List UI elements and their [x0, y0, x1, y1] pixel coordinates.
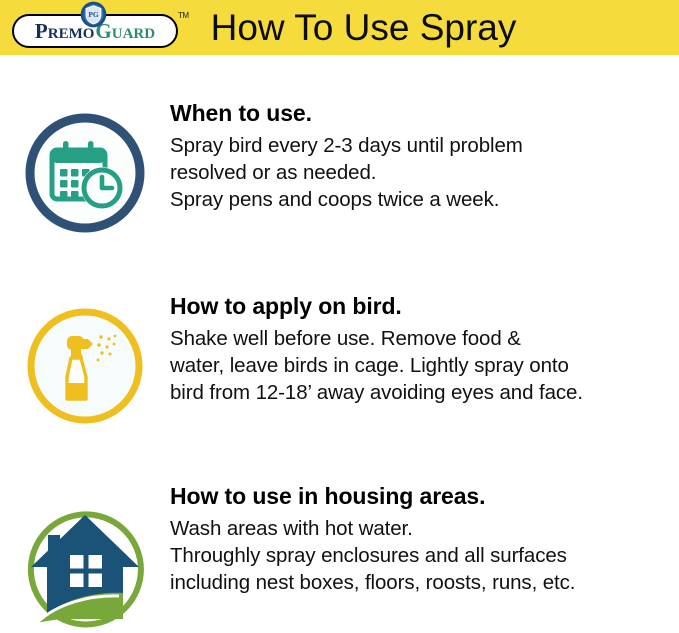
body-line: resolved or as needed. — [170, 159, 671, 186]
text-column: How to use in housing areas. Wash areas … — [170, 483, 679, 596]
calendar-clock-icon — [22, 110, 148, 236]
icon-column — [0, 100, 170, 236]
instruction-section-when-to-use: When to use. Spray bird every 2-3 days u… — [0, 100, 679, 236]
section-title: How to use in housing areas. — [170, 483, 671, 510]
instruction-section-housing-areas: How to use in housing areas. Wash areas … — [0, 483, 679, 633]
body-line: Wash areas with hot water. — [170, 515, 671, 542]
shield-monogram: PG — [88, 10, 99, 19]
text-column: When to use. Spray bird every 2-3 days u… — [170, 100, 679, 213]
icon-column — [0, 483, 170, 633]
section-title: When to use. — [170, 100, 671, 127]
body-line: Spray pens and coops twice a week. — [170, 186, 671, 213]
section-body: Shake well before use. Remove food & wat… — [170, 325, 671, 406]
shield-icon: PG — [80, 1, 107, 28]
header-banner: PG PremoGuard TM How To Use Spray — [0, 0, 679, 55]
body-line: bird from 12-18’ away avoiding eyes and … — [170, 379, 671, 406]
section-body: Wash areas with hot water. Throughly spr… — [170, 515, 671, 596]
house-leaf-icon — [15, 493, 155, 633]
body-line: water, leave birds in cage. Lightly spra… — [170, 352, 671, 379]
body-line: Shake well before use. Remove food & — [170, 325, 671, 352]
body-line: Spray bird every 2-3 days until problem — [170, 132, 671, 159]
body-line: including nest boxes, floors, roosts, ru… — [170, 569, 671, 596]
section-body: Spray bird every 2-3 days until problem … — [170, 132, 671, 213]
instruction-section-how-to-apply: How to apply on bird. Shake well before … — [0, 293, 679, 429]
spray-bottle-icon — [22, 303, 148, 429]
trademark-mark: TM — [178, 11, 189, 20]
body-line: Throughly spray enclosures and all surfa… — [170, 542, 671, 569]
text-column: How to apply on bird. Shake well before … — [170, 293, 679, 406]
icon-column — [0, 293, 170, 429]
section-title: How to apply on bird. — [170, 293, 671, 320]
